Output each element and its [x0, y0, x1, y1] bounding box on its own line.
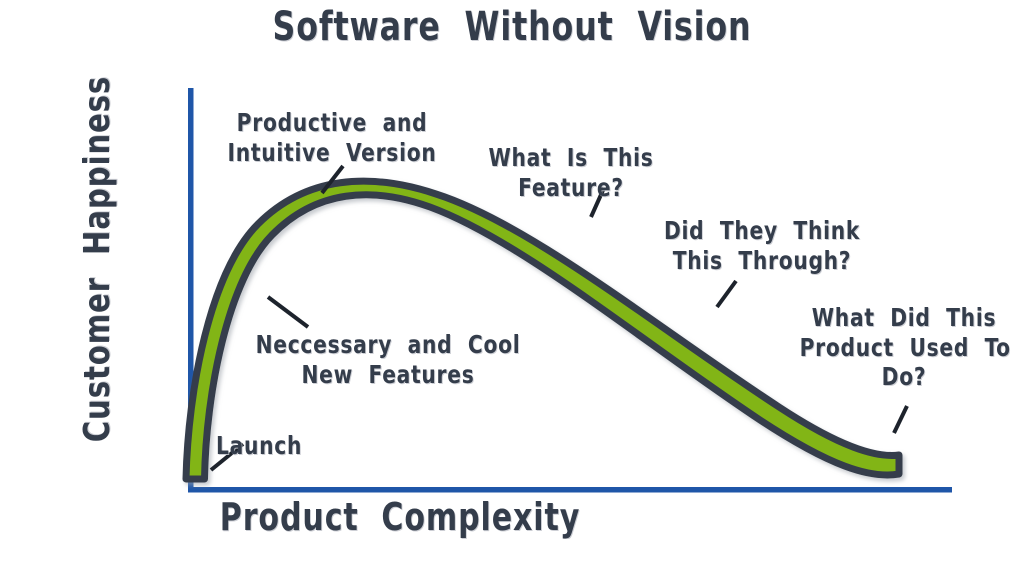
annotation-productive-intuitive-version: Productive and Intuitive Version [220, 108, 445, 167]
page-title: Software Without Vision [61, 4, 962, 51]
annotation-what-is-this-feature: What Is This Feature? [482, 143, 660, 202]
x-axis-label: Product Complexity [215, 495, 585, 540]
x-axis-line [188, 487, 952, 493]
annotation-what-did-this-product-used-to-do: What Did This Product Used To Do? [800, 303, 1009, 392]
leader-line-whatdid [894, 406, 907, 433]
leader-line-neccessary [268, 297, 308, 327]
annotation-launch: Launch [216, 431, 333, 461]
annotation-neccessary-cool-new-features: Neccessary and Cool New Features [253, 330, 523, 389]
annotation-did-they-think-this-through: Did They Think This Through? [659, 216, 864, 275]
y-axis-label: Customer Happiness [77, 154, 119, 442]
chart-canvas: Software Without Vision Customer Happine… [0, 0, 1024, 585]
leader-line-didthey [717, 281, 736, 307]
